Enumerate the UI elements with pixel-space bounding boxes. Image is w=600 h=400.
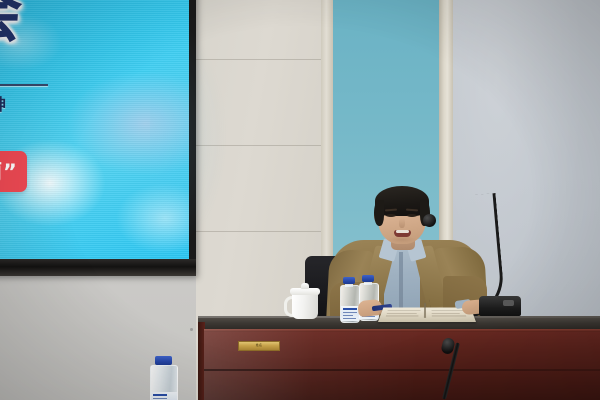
bottle-cap bbox=[362, 275, 374, 282]
wall-panel-seam bbox=[196, 145, 321, 146]
projection-screen: 会 光精神 最美丽” bbox=[0, 0, 189, 259]
speaker-eye-left bbox=[386, 214, 396, 217]
book-spine bbox=[424, 303, 426, 318]
wall-panel-seam bbox=[196, 59, 321, 60]
desk-front-gloss bbox=[204, 329, 600, 400]
microphone-capsule-icon bbox=[423, 214, 436, 227]
speaker-chin-shadow bbox=[388, 236, 416, 243]
water-bottle-foreground bbox=[150, 356, 176, 400]
bottle-label bbox=[341, 306, 359, 321]
bottle-cap bbox=[155, 356, 172, 365]
screen-scanlines bbox=[0, 0, 189, 259]
wall-panel-seam bbox=[196, 231, 321, 232]
mug-lid-knob bbox=[301, 283, 309, 289]
slide-divider-rule bbox=[0, 84, 48, 86]
screenshot-root: 会 光精神 最美丽” 姓名 bbox=[0, 0, 600, 400]
desk-nameplate-text: 姓名 bbox=[239, 342, 279, 348]
projection-screen-bottom-bar bbox=[0, 259, 196, 276]
tea-mug bbox=[292, 291, 318, 319]
bottle-body bbox=[340, 285, 360, 323]
wall-fixture-dot bbox=[190, 328, 193, 331]
speaker-eye-right bbox=[407, 214, 417, 217]
speaker-nose bbox=[399, 218, 405, 228]
open-book bbox=[378, 307, 476, 322]
microphone-base bbox=[479, 296, 521, 316]
slide-banner-text: 最美丽” bbox=[0, 160, 18, 184]
water-bottle bbox=[340, 277, 358, 321]
slide-subtitle-text: 光精神 bbox=[0, 91, 8, 115]
speaker-teeth bbox=[396, 230, 409, 233]
speaker-hair-side-left bbox=[374, 200, 384, 226]
microphone-mute-button[interactable] bbox=[503, 300, 514, 306]
bottle-cap bbox=[343, 277, 355, 284]
desk-nameplate: 姓名 bbox=[238, 341, 280, 351]
mug-lid bbox=[290, 288, 320, 295]
slide-logo-text: 会 bbox=[0, 0, 22, 46]
bottle-body bbox=[150, 365, 178, 400]
slide-red-banner: 最美丽” bbox=[0, 151, 27, 192]
desk-panel-seam bbox=[204, 369, 600, 371]
